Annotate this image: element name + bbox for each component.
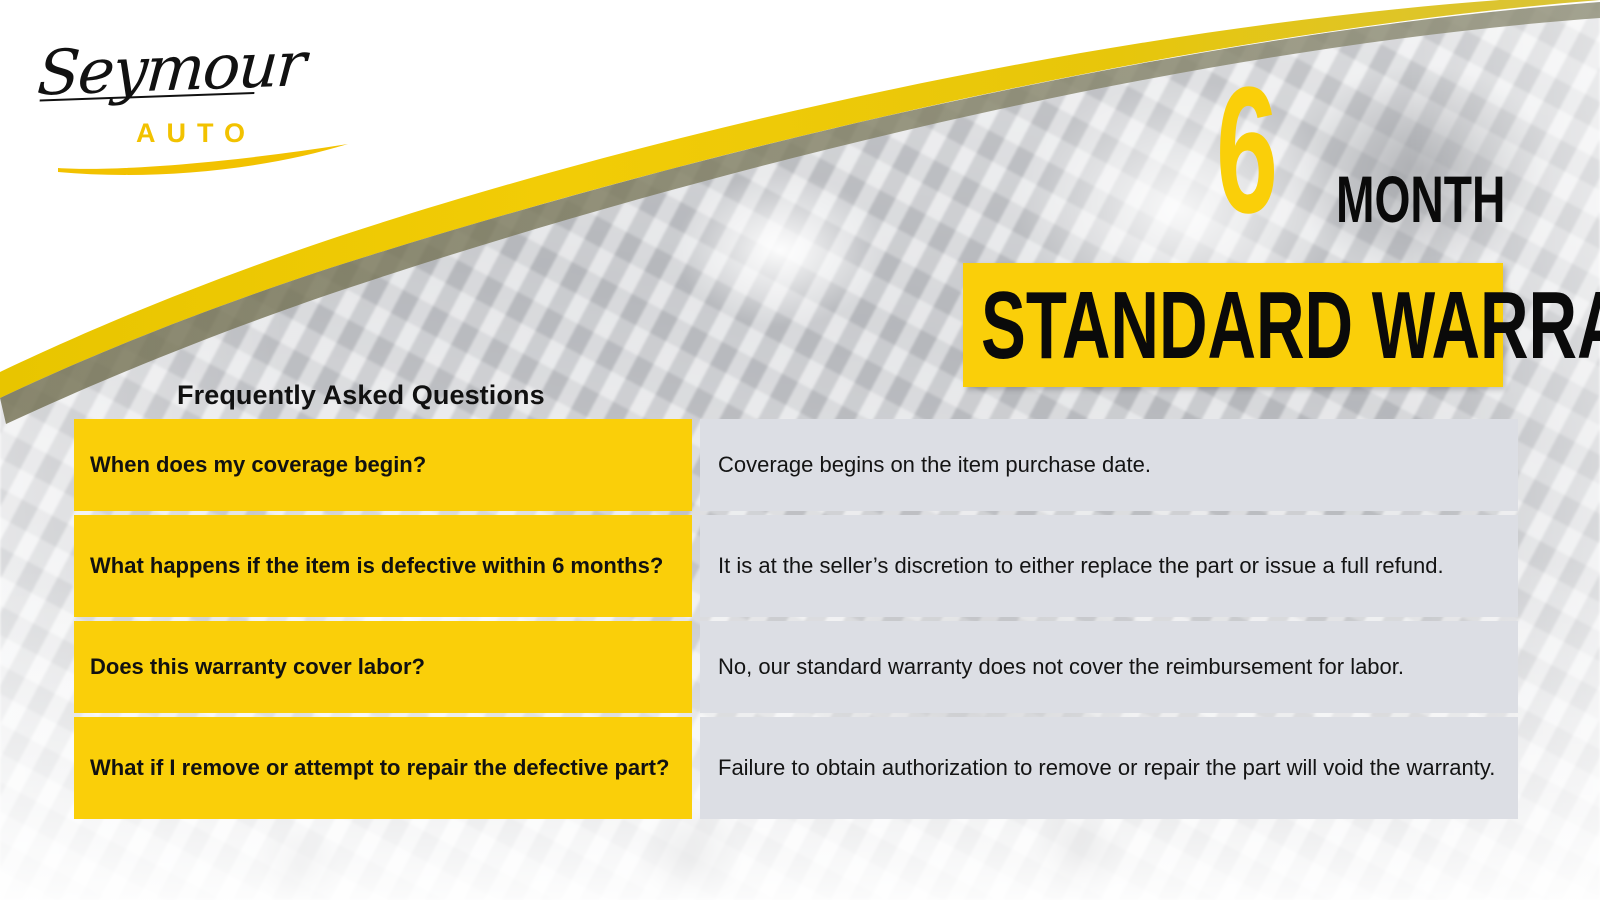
duration-unit: MONTH <box>1336 166 1505 232</box>
faq-answer-text: It is at the seller’s discretion to eith… <box>718 551 1500 580</box>
faq-answer-cell: No, our standard warranty does not cover… <box>700 621 1518 713</box>
faq-question-cell: What if I remove or attempt to repair th… <box>74 717 692 819</box>
faq-answer-cell: Coverage begins on the item purchase dat… <box>700 419 1518 511</box>
table-row: What if I remove or attempt to repair th… <box>74 717 1518 819</box>
table-row: When does my coverage begin? Coverage be… <box>74 419 1518 511</box>
faq-heading: Frequently Asked Questions <box>177 380 545 411</box>
faq-question-text: When does my coverage begin? <box>90 450 676 479</box>
faq-question-cell: Does this warranty cover labor? <box>74 621 692 713</box>
faq-question-text: Does this warranty cover labor? <box>90 652 676 681</box>
faq-answer-text: No, our standard warranty does not cover… <box>718 652 1500 681</box>
duration-number: 6 <box>1216 76 1274 226</box>
seymour-auto-logo: Seymour AUTO <box>30 22 330 172</box>
faq-answer-cell: It is at the seller’s discretion to eith… <box>700 515 1518 617</box>
standard-warranty-banner: STANDARD WARRANTY <box>963 263 1503 387</box>
standard-warranty-title: STANDARD WARRANTY <box>981 285 1600 367</box>
table-row: Does this warranty cover labor? No, our … <box>74 621 1518 713</box>
faq-question-text: What happens if the item is defective wi… <box>90 551 676 580</box>
logo-yellow-swash-icon <box>56 138 356 178</box>
faq-table: When does my coverage begin? Coverage be… <box>74 419 1518 819</box>
logo-wordmark: Seymour <box>35 27 307 109</box>
faq-question-text: What if I remove or attempt to repair th… <box>90 753 676 782</box>
faq-question-cell: When does my coverage begin? <box>74 419 692 511</box>
faq-answer-text: Failure to obtain authorization to remov… <box>718 753 1500 782</box>
faq-question-cell: What happens if the item is defective wi… <box>74 515 692 617</box>
warranty-slide: Seymour AUTO 6 MONTH STANDARD WARRANTY F… <box>0 0 1600 900</box>
faq-answer-cell: Failure to obtain authorization to remov… <box>700 717 1518 819</box>
faq-answer-text: Coverage begins on the item purchase dat… <box>718 450 1500 479</box>
table-row: What happens if the item is defective wi… <box>74 515 1518 617</box>
